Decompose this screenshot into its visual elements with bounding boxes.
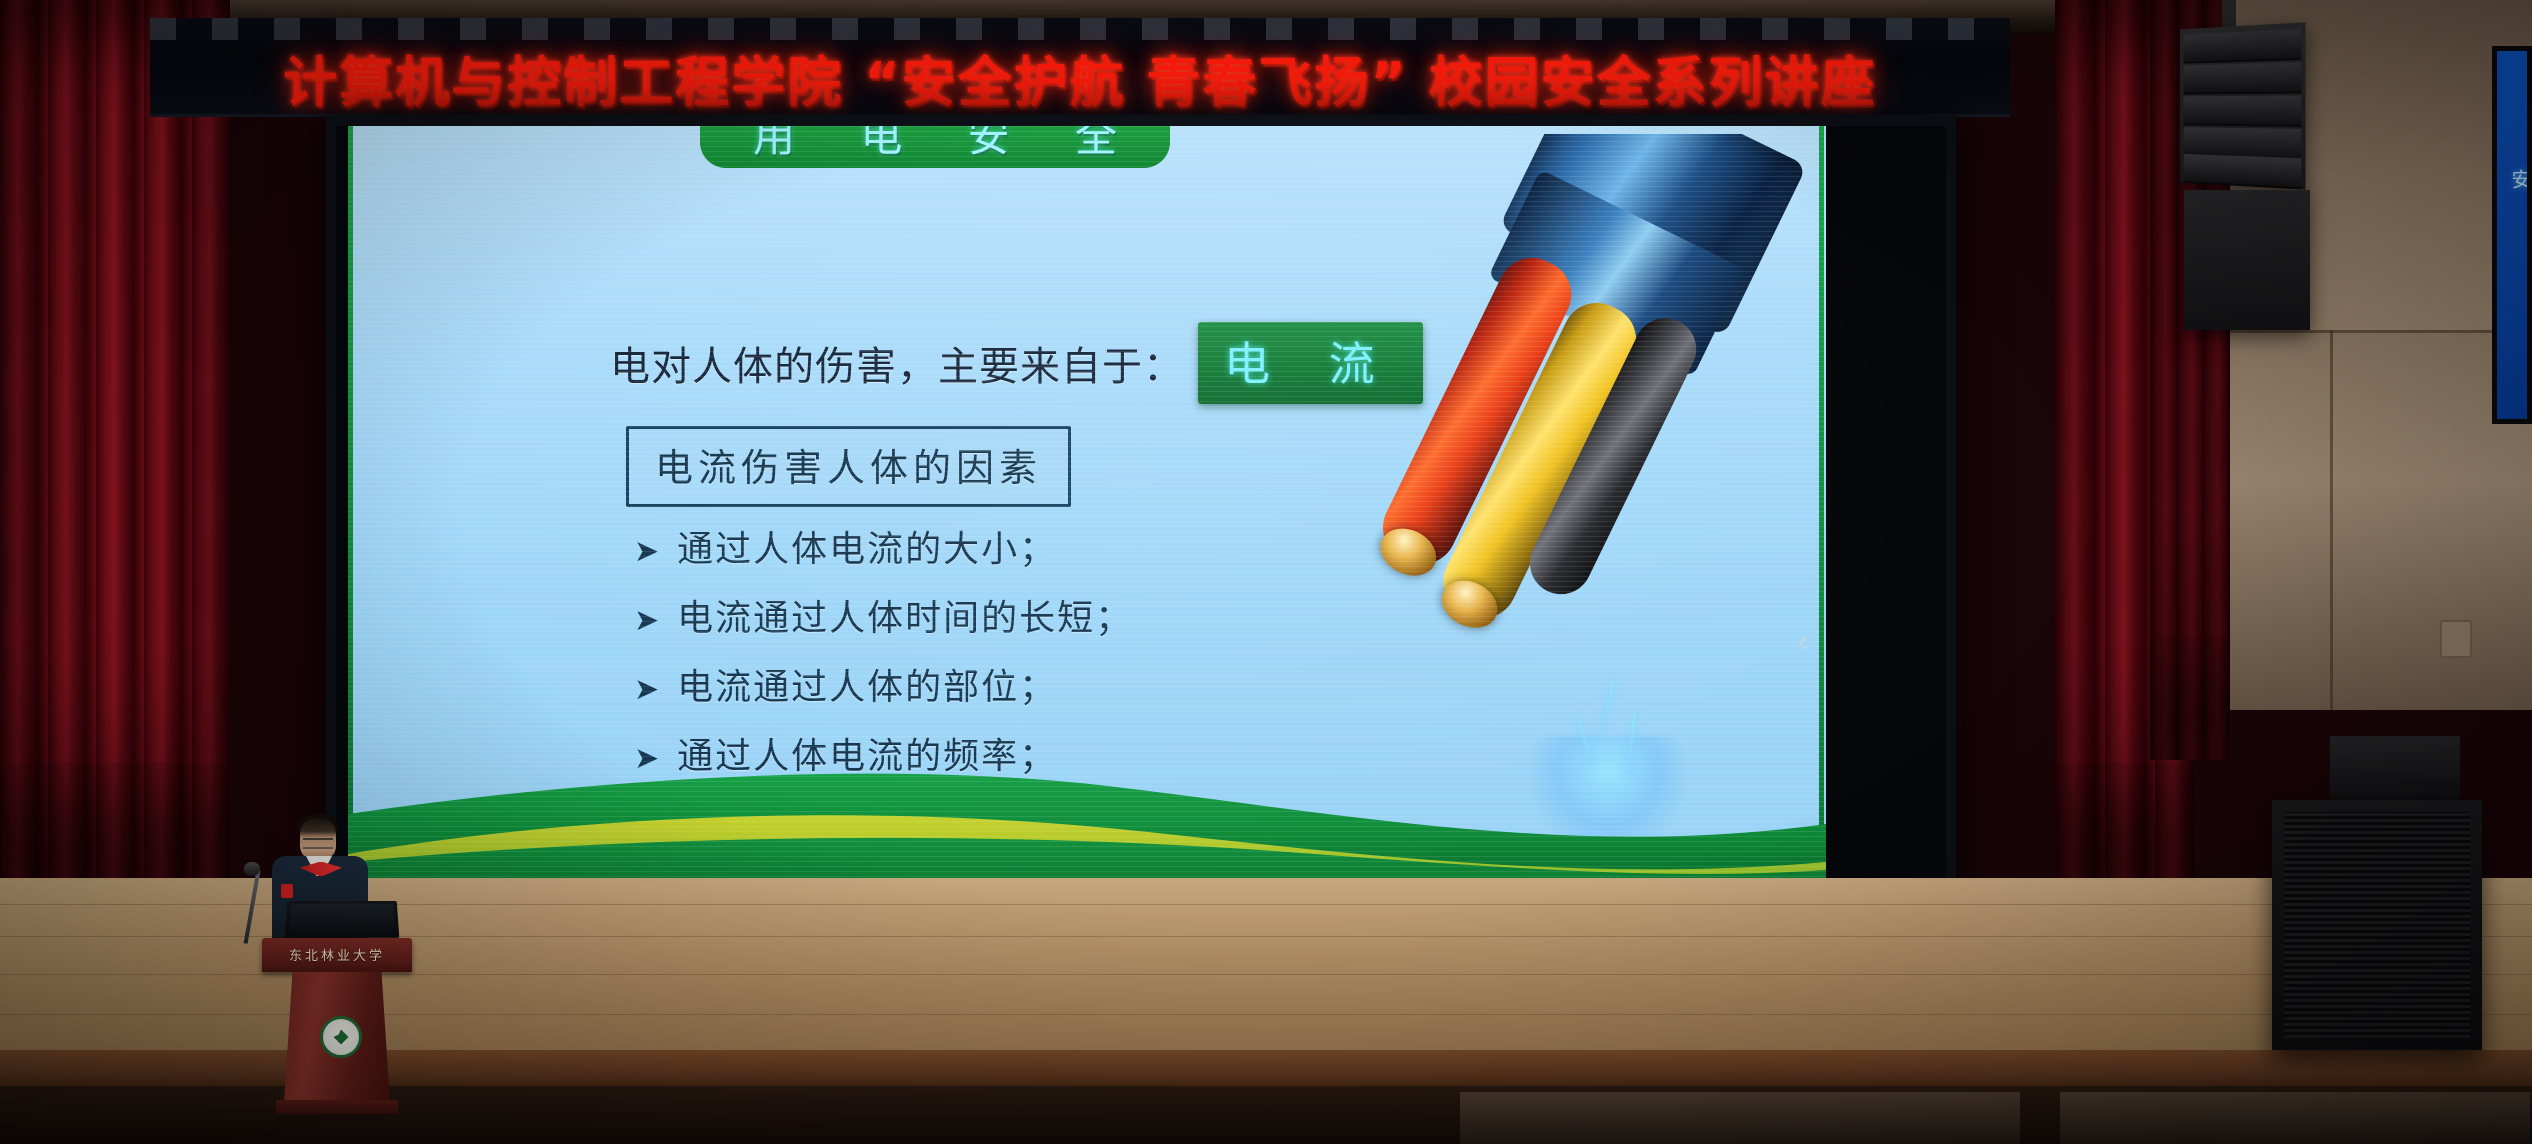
- cable-illustration: [1301, 134, 1826, 687]
- side-led-display: 安: [2492, 46, 2532, 424]
- line-array-speaker: [2180, 22, 2305, 189]
- projection-screen: 用 电 安 全 电对人体的伤害，主要来自于：: [326, 116, 1956, 926]
- bullet-arrow-icon: ➤: [634, 675, 659, 705]
- seat-row: [1460, 1092, 2020, 1144]
- bullet-text: 电流通过人体的部位；: [677, 658, 1057, 710]
- podium-institution-name: 东北林业大学: [262, 945, 412, 964]
- presentation-slide: 用 电 安 全 电对人体的伤害，主要来自于：: [348, 126, 1826, 886]
- bullet-arrow-icon: ➤: [634, 537, 659, 567]
- podium-top: 东北林业大学: [262, 938, 412, 972]
- side-display-text: 安: [2501, 169, 2531, 189]
- bullet-text: 通过人体电流的频率；: [677, 727, 1057, 779]
- led-banner: 计算机与控制工程学院 “安全护航 青春飞扬” 校园安全系列讲座: [150, 18, 2010, 117]
- slide-highlight-box: 电 流: [1198, 322, 1423, 404]
- wall-outlet-plate: [2440, 620, 2472, 658]
- wall-seam: [2330, 330, 2333, 710]
- bullet-arrow-icon: ➤: [634, 744, 659, 774]
- led-banner-text: 计算机与控制工程学院 “安全护航 青春飞扬” 校园安全系列讲座: [150, 40, 2010, 114]
- laptop: [285, 901, 400, 938]
- slide-rule-left: [348, 126, 353, 826]
- list-item: ➤ 电流通过人体的部位；: [634, 658, 1133, 710]
- list-item: ➤ 电流通过人体时间的长短；: [634, 589, 1133, 641]
- microphone-icon: [244, 862, 260, 876]
- slide-lead-text: 电对人体的伤害，主要来自于：: [610, 334, 1184, 392]
- presenter-badge: [281, 884, 293, 898]
- list-item: ➤ 通过人体电流的频率；: [634, 727, 1133, 779]
- slide-highlight-text: 电 流: [1224, 337, 1397, 391]
- auditorium-scene: 计算机与控制工程学院 “安全护航 青春飞扬” 校园安全系列讲座 用 电 安 全: [0, 0, 2532, 1144]
- floor-speaker: [2272, 800, 2482, 1050]
- podium-base: [276, 1100, 398, 1114]
- slide-title-text: 用 电 安 全: [727, 126, 1143, 164]
- cable-photo: [1276, 134, 1826, 694]
- presenter-glasses: [303, 838, 333, 849]
- slide-section-title: 电流伤害人体的因素: [655, 446, 1042, 490]
- stage-curtain-left: [0, 0, 230, 900]
- university-crest-icon: [320, 1016, 362, 1058]
- list-item: ➤ 通过人体电流的大小；: [634, 520, 1133, 572]
- slide-lead-row: 电对人体的伤害，主要来自于： 电 流: [610, 322, 1423, 404]
- slide-prev-arrow-icon[interactable]: ‹: [1796, 622, 1810, 662]
- seat-row: [2060, 1092, 2530, 1144]
- bullet-text: 电流通过人体时间的长短；: [677, 589, 1133, 641]
- subwoofer-speaker: [2184, 190, 2310, 330]
- slide-title-banner: 用 电 安 全: [700, 126, 1170, 168]
- bullet-text: 通过人体电流的大小；: [677, 520, 1057, 572]
- slide-section-box: 电流伤害人体的因素: [626, 426, 1071, 507]
- bullet-arrow-icon: ➤: [634, 606, 659, 636]
- speaker-grill: [2284, 812, 2470, 1038]
- floor-speaker-top: [2330, 736, 2460, 806]
- podium: 东北林业大学: [262, 938, 412, 1118]
